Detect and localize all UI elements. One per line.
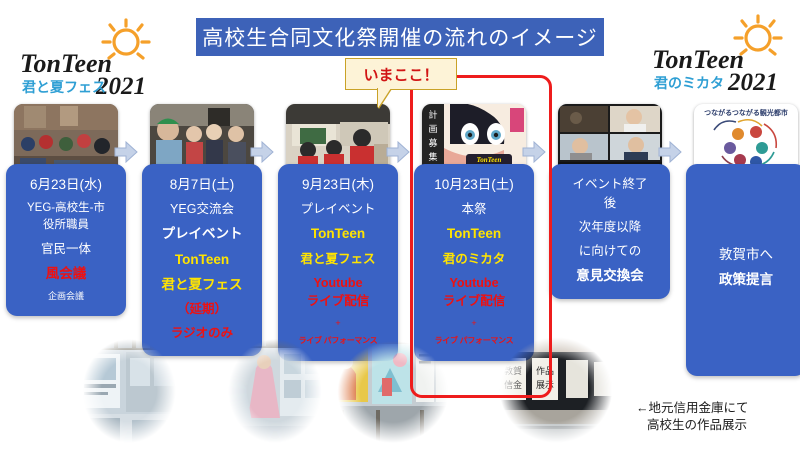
page-title: 高校生合同文化祭開催の流れのイメージ (196, 18, 604, 56)
card-line: ライブ配信 (282, 293, 394, 310)
logo-tonteen-kimino-mikata: TonTeen 2021 君のミカタ (640, 10, 800, 100)
svg-text:作品: 作品 (536, 365, 554, 377)
card-line: TonTeen (282, 225, 394, 243)
chevron-right-icon (113, 140, 139, 164)
callout-pointer-icon (378, 88, 391, 108)
card-line: 意見交換会 (554, 267, 666, 285)
svg-text:君のミカタ: 君のミカタ (653, 76, 724, 92)
flow-card-6: 敦賀市へ 政策提言 (686, 164, 800, 376)
card-line: 本祭 (418, 201, 530, 218)
dress-exhibit-photo (222, 332, 328, 450)
exhibit-caption: ←地元信用金庫にて 高校生の作品展示 (636, 400, 796, 434)
caption-line-2: 高校生の作品展示 (636, 417, 796, 434)
card-line: 敦賀市へ (690, 246, 800, 264)
card-line: 8月7日(土) (146, 176, 258, 194)
flow-card-4: 10月23日(土) 本祭 TonTeen 君のミカタ Youtube ライブ配信… (414, 164, 534, 361)
shinkin-bank-storefront-photo: 敦賀 信金 作品 展示 (492, 330, 620, 450)
chevron-right-icon (657, 140, 683, 164)
card-line: 企画会議 (10, 290, 122, 302)
card-line: 10月23日(土) (418, 176, 530, 194)
card-line: 後 (554, 195, 666, 212)
svg-text:展示: 展示 (536, 380, 554, 391)
card-line: YEG交流会 (146, 201, 258, 218)
card-line: 次年度以降 (554, 219, 666, 236)
card-line: ラジオのみ (146, 325, 258, 342)
chevron-right-icon (385, 140, 411, 164)
logo-tonteen-kimito-natsufes: TonTeen 2021 君と夏フェス (8, 12, 168, 102)
chevron-right-icon (521, 140, 547, 164)
svg-text:敦賀: 敦賀 (504, 365, 522, 377)
card-line: + (282, 317, 394, 329)
card-line: 君と夏フェス (282, 251, 394, 268)
card-line: YEG-高校生-市 (10, 201, 122, 217)
flow-card-5: イベント終了 後 次年度以降 に向けての 意見交換会 (550, 164, 670, 299)
card-line: に向けての (554, 243, 666, 260)
card-line: 役所職員 (10, 218, 122, 234)
card-line: 君と夏フェス (146, 276, 258, 294)
svg-text:君と夏フェス: 君と夏フェス (21, 79, 106, 96)
card-line: 政策提言 (690, 271, 800, 289)
svg-text:つながるつながる観光都市: つながるつながる観光都市 (704, 108, 788, 117)
you-are-here-callout: いまここ！ (345, 58, 457, 90)
card-line: 官民一体 (10, 241, 122, 258)
caption-line-1: ←地元信用金庫にて (636, 400, 796, 417)
card-line: 9月23日(木) (282, 176, 394, 194)
card-line: Youtube (418, 275, 530, 292)
card-line: プレイベント (146, 225, 258, 243)
card-line: Youtube (282, 275, 394, 292)
chevron-right-icon (249, 140, 275, 164)
svg-text:TonTeen: TonTeen (477, 156, 502, 164)
svg-text:募: 募 (428, 137, 437, 149)
card-line: 君のミカタ (418, 251, 530, 268)
card-line: 風会議 (10, 265, 122, 283)
flow-card-1: 6月23日(水) YEG-高校生-市 役所職員 官民一体 風会議 企画会議 (6, 164, 126, 316)
card-line: プレイベント (282, 201, 394, 218)
artwork-boards-photo (330, 334, 456, 450)
flow-card-3: 9月23日(木) プレイベント TonTeen 君と夏フェス Youtube ラ… (278, 164, 398, 361)
card-line: + (418, 317, 530, 329)
card-line: 6月23日(水) (10, 176, 122, 194)
card-line: イベント終了 (554, 176, 666, 193)
svg-text:画: 画 (428, 124, 437, 135)
svg-text:2021: 2021 (727, 69, 778, 96)
card-line: ライブ配信 (418, 293, 530, 310)
svg-text:集: 集 (428, 151, 437, 163)
card-line: TonTeen (418, 225, 530, 243)
card-line: （延期） (146, 301, 258, 318)
svg-text:計: 計 (428, 109, 437, 121)
svg-text:信金: 信金 (504, 379, 522, 391)
exhibit-display-photo (76, 332, 182, 450)
slide-canvas: TonTeen 2021 君と夏フェス TonTeen 2021 君のミカタ 高… (0, 0, 800, 450)
flow-card-2: 8月7日(土) YEG交流会 プレイベント TonTeen 君と夏フェス （延期… (142, 164, 262, 356)
card-line: TonTeen (146, 251, 258, 269)
